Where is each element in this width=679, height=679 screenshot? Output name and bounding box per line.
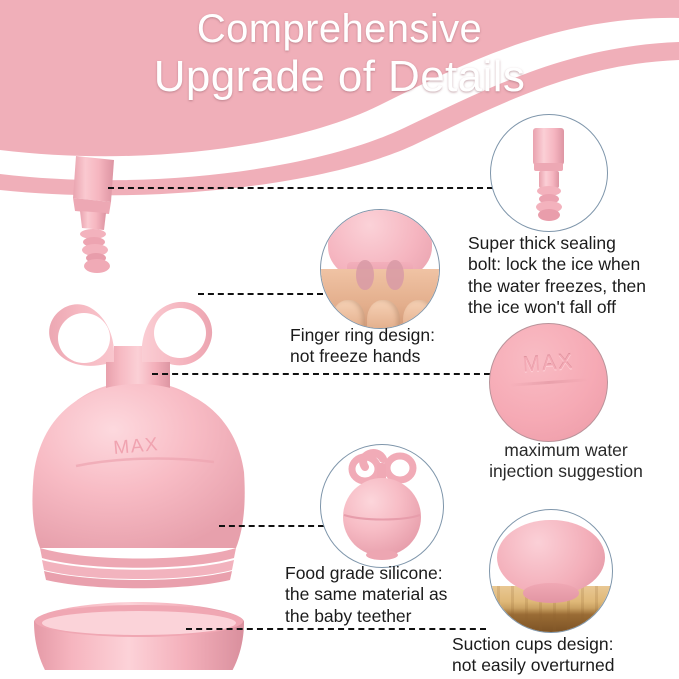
hand-illustration [320,269,440,329]
max-indicator-line [509,378,589,387]
main-product-illustration: MAX [18,150,268,670]
infographic-canvas: Comprehensive Upgrade of Details [0,0,679,679]
max-emboss-label: MAX [489,348,607,380]
suction-cup-base [523,583,579,603]
connector-line-suction [186,628,486,630]
caption-food-grade-silicone: Food grade silicone: the same material a… [285,563,495,627]
sealing-bolt-part [73,156,114,273]
caption-suction-cups: Suction cups design: not easily overturn… [452,634,679,677]
callout-image-finger-ring [320,209,440,329]
bowl-with-suction-base [34,602,244,670]
connector-line-sealing-bolt [108,187,493,189]
callout-image-max-line: MAX [489,323,608,442]
connector-line-finger-ring [198,293,323,295]
caption-finger-ring: Finger ring design: not freeze hands [290,325,485,368]
callout-image-suction-on-wood [489,509,613,633]
connector-line-silicone [219,525,324,527]
callout-image-assembled-product [320,444,444,568]
lid-with-finger-rings: MAX [32,302,244,588]
callout-image-sealing-bolt [490,114,608,232]
caption-max-line: maximum water injection suggestion [455,440,677,483]
caption-sealing-bolt: Super thick sealing bolt: lock the ice w… [468,233,679,318]
connector-line-max [152,373,490,375]
max-emboss-text: MAX [113,434,160,459]
